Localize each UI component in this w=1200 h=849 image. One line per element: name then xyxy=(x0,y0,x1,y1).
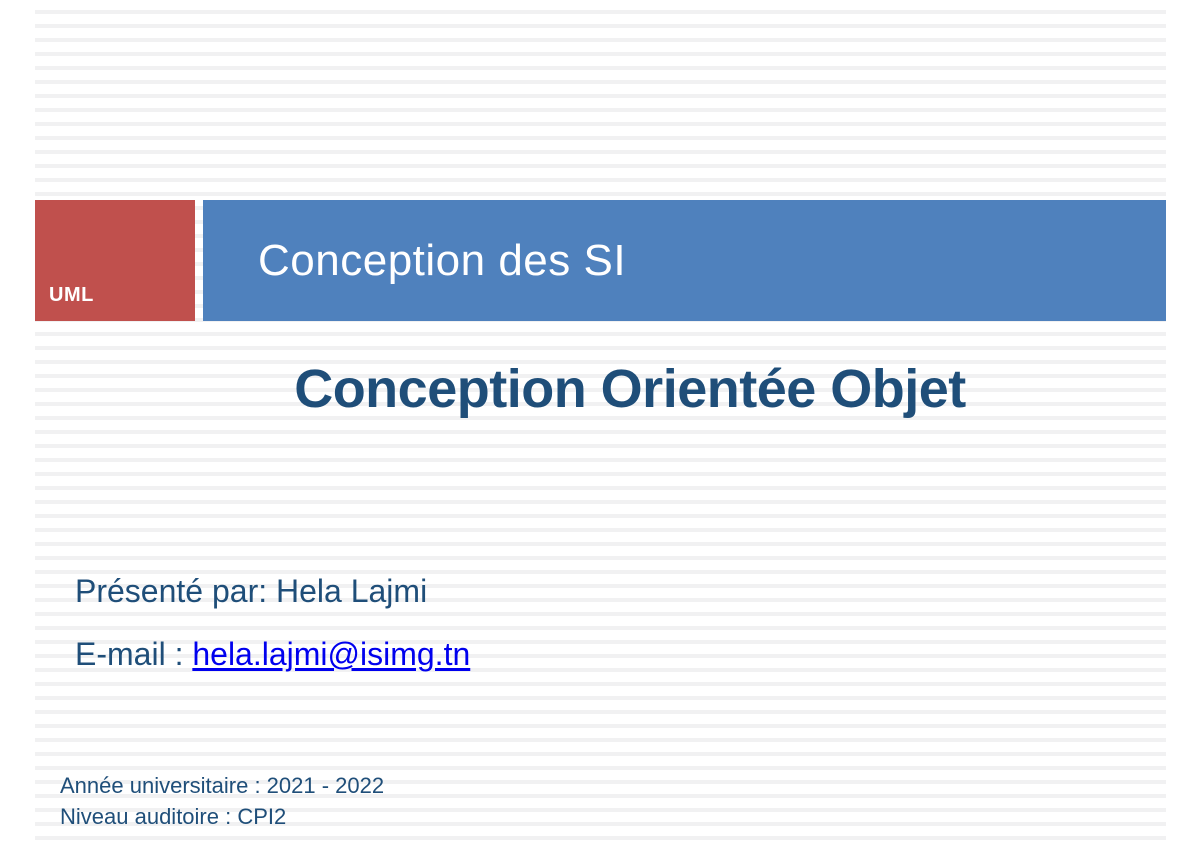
slide-header-banner: UML Conception des SI xyxy=(35,200,1166,321)
academic-year-line: Année universitaire : 2021 - 2022 xyxy=(60,770,960,801)
presenter-line: Présenté par: Hela Lajmi xyxy=(75,560,975,623)
striped-background xyxy=(35,0,1166,849)
uml-tag-block: UML xyxy=(35,200,195,321)
uml-tag-label: UML xyxy=(49,284,94,307)
audience-level-line: Niveau auditoire : CPI2 xyxy=(60,801,960,832)
course-title: Conception des SI xyxy=(258,236,626,286)
banner-title-bar: Conception des SI xyxy=(203,200,1166,321)
presenter-info: Présenté par: Hela Lajmi E-mail : hela.l… xyxy=(75,560,975,686)
email-label: E-mail : xyxy=(75,636,192,672)
page-title: Conception Orientée Objet xyxy=(0,358,1200,420)
email-line: E-mail : hela.lajmi@isimg.tn xyxy=(75,623,975,686)
slide-footer: Année universitaire : 2021 - 2022 Niveau… xyxy=(60,770,960,832)
email-link[interactable]: hela.lajmi@isimg.tn xyxy=(192,636,470,672)
presentation-slide: UML Conception des SI Conception Orienté… xyxy=(0,0,1200,849)
